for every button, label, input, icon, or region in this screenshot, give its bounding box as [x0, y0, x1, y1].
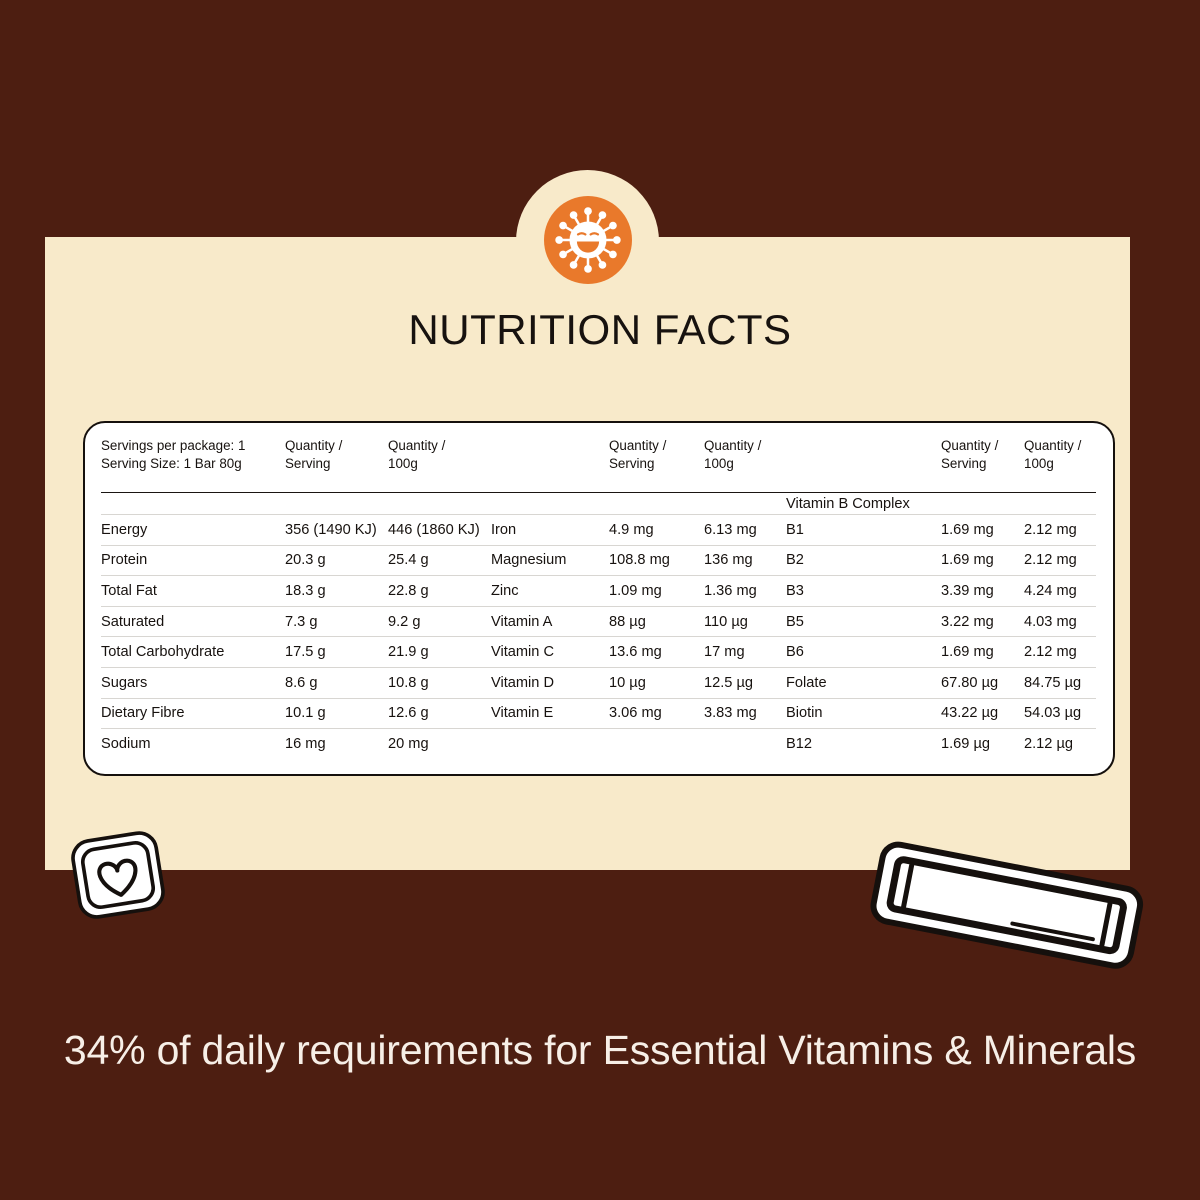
table-header-row: Quantity / Serving Quantity / 100g: [786, 437, 1096, 493]
table-row: Saturated 7.3 g 9.2 g: [101, 606, 491, 637]
header-qty-100g: Quantity / 100g: [388, 437, 488, 472]
table-row: B1 1.69 mg 2.12 mg: [786, 514, 1096, 545]
table-row: B2 1.69 mg 2.12 mg: [786, 545, 1096, 576]
table-row: B3 3.39 mg 4.24 mg: [786, 575, 1096, 606]
table-row: Total Carbohydrate 17.5 g 21.9 g: [101, 636, 491, 667]
table-row: Vitamin D 10 µg 12.5 µg: [491, 667, 786, 698]
table-body: B1 1.69 mg 2.12 mg B2 1.69 mg 2.12 mg B3…: [786, 514, 1096, 759]
servings-per-package: Servings per package: 1: [101, 437, 285, 455]
serving-size: Serving Size: 1 Bar 80g: [101, 455, 285, 473]
table-row: Folate 67.80 µg 84.75 µg: [786, 667, 1096, 698]
header-qty-serving: Quantity / Serving: [285, 437, 388, 472]
header-qty-100g: Quantity / 100g: [1024, 437, 1096, 472]
table-header-row: Quantity / Serving Quantity / 100g: [491, 437, 786, 493]
table-row: Magnesium 108.8 mg 136 mg: [491, 545, 786, 576]
table-body: Energy 356 (1490 KJ) 446 (1860 KJ) Prote…: [101, 514, 491, 759]
header-gap: [491, 493, 786, 514]
header-qty-100g: Quantity / 100g: [704, 437, 786, 472]
table-row: Protein 20.3 g 25.4 g: [101, 545, 491, 576]
table-row: Total Fat 18.3 g 22.8 g: [101, 575, 491, 606]
table-row: Dietary Fibre 10.1 g 12.6 g: [101, 698, 491, 729]
header-qty-serving: Quantity / Serving: [941, 437, 1024, 472]
sun-smile-icon: [544, 196, 632, 284]
table-row: Iron 4.9 mg 6.13 mg: [491, 514, 786, 545]
nutrition-table-panel: Servings per package: 1 Serving Size: 1 …: [83, 421, 1115, 776]
header-qty-serving: Quantity / Serving: [609, 437, 704, 472]
table-body: Iron 4.9 mg 6.13 mg Magnesium 108.8 mg 1…: [491, 514, 786, 759]
header-gap: [101, 493, 491, 514]
table-row: Zinc 1.09 mg 1.36 mg: [491, 575, 786, 606]
table-row: B12 1.69 µg 2.12 µg: [786, 728, 1096, 759]
table-header-row: Servings per package: 1 Serving Size: 1 …: [101, 437, 491, 493]
table-row: B6 1.69 mg 2.12 mg: [786, 636, 1096, 667]
table-row: Energy 356 (1490 KJ) 446 (1860 KJ): [101, 514, 491, 545]
serving-info: Servings per package: 1 Serving Size: 1 …: [101, 437, 285, 472]
table-row: Sodium 16 mg 20 mg: [101, 728, 491, 759]
table-column-minerals-vitamins: Quantity / Serving Quantity / 100g Iron …: [491, 437, 786, 764]
footer-claim: 34% of daily requirements for Essential …: [0, 1027, 1200, 1074]
energy-bar-sticker-icon: [866, 832, 1146, 977]
page-title: NUTRITION FACTS: [0, 306, 1200, 354]
table-row: Vitamin C 13.6 mg 17 mg: [491, 636, 786, 667]
nutrition-label-poster: NUTRITION FACTS Servings per package: 1 …: [0, 0, 1200, 1200]
section-title-vitamin-b-complex: Vitamin B Complex: [786, 493, 1096, 514]
table-row: Vitamin A 88 µg 110 µg: [491, 606, 786, 637]
table-row: Sugars 8.6 g 10.8 g: [101, 667, 491, 698]
table-row: B5 3.22 mg 4.03 mg: [786, 606, 1096, 637]
heart-sticker-icon: [66, 826, 170, 923]
table-column-vitamin-b-complex: Quantity / Serving Quantity / 100g Vitam…: [786, 437, 1096, 764]
table-row: Biotin 43.22 µg 54.03 µg: [786, 698, 1096, 729]
table-row: Vitamin E 3.06 mg 3.83 mg: [491, 698, 786, 729]
table-column-macros: Servings per package: 1 Serving Size: 1 …: [101, 437, 491, 764]
table-row-empty: [491, 728, 786, 759]
